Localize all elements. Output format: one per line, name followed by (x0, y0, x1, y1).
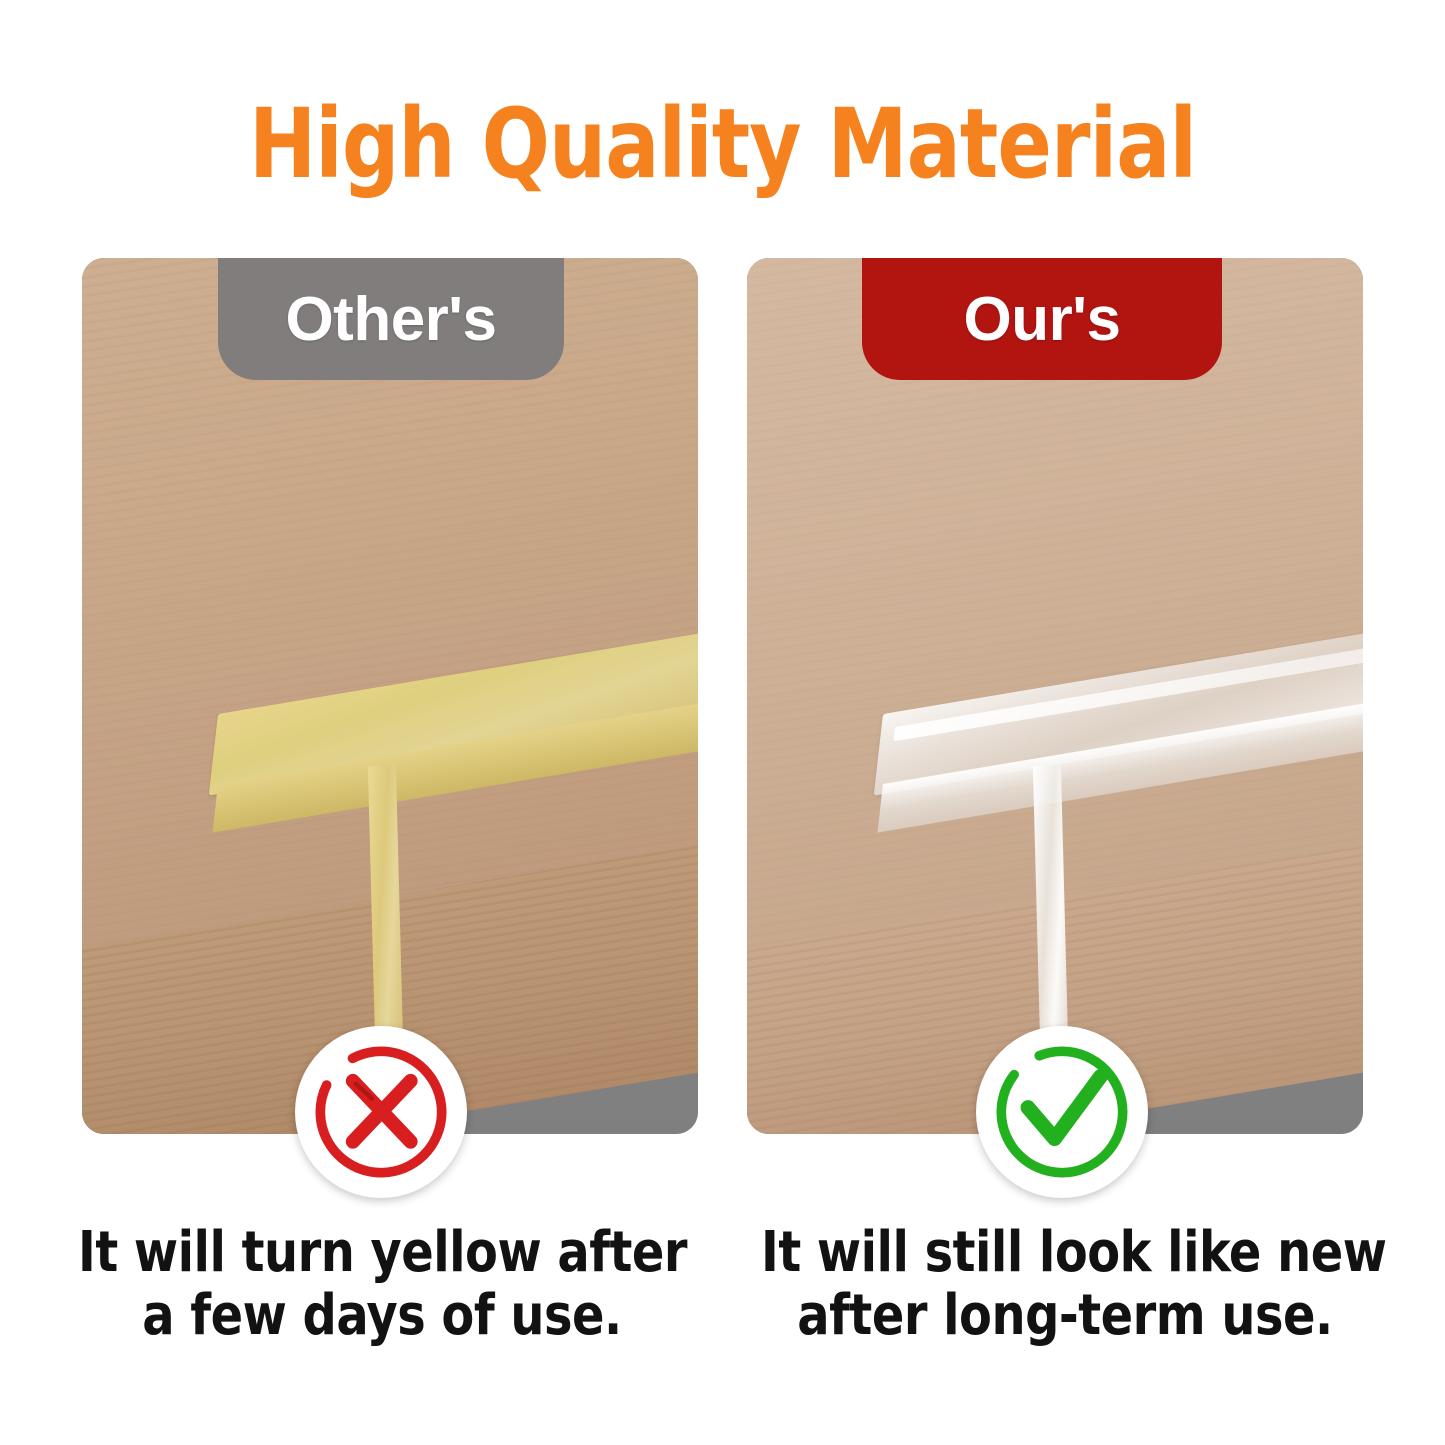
caption-other-line-1: It will turn yellow after (78, 1222, 686, 1285)
caption-other-line-2: a few days of use. (78, 1285, 686, 1348)
cross-mark-container (295, 1026, 467, 1198)
badge-other: Other's (218, 258, 564, 380)
page-title: High Quality Material (51, 96, 1395, 192)
product-photo-ours (747, 258, 1363, 1134)
caption-other: It will turn yellow after a few days of … (78, 1222, 686, 1347)
badge-ours: Our's (862, 258, 1222, 380)
product-photo-other (82, 258, 698, 1134)
comparison-panel-ours[interactable]: Our's (747, 258, 1363, 1134)
check-icon (988, 1038, 1136, 1186)
comparison-panels: Other's Our's (82, 258, 1363, 1134)
page-title-container: High Quality Material (0, 96, 1445, 192)
comparison-panel-other[interactable]: Other's (82, 258, 698, 1134)
cross-icon (307, 1038, 455, 1186)
check-mark-container (976, 1026, 1148, 1198)
caption-ours-line-2: after long-term use. (761, 1285, 1369, 1348)
caption-ours-line-1: It will still look like new (761, 1222, 1369, 1285)
caption-ours: It will still look like new after long-t… (761, 1222, 1369, 1347)
